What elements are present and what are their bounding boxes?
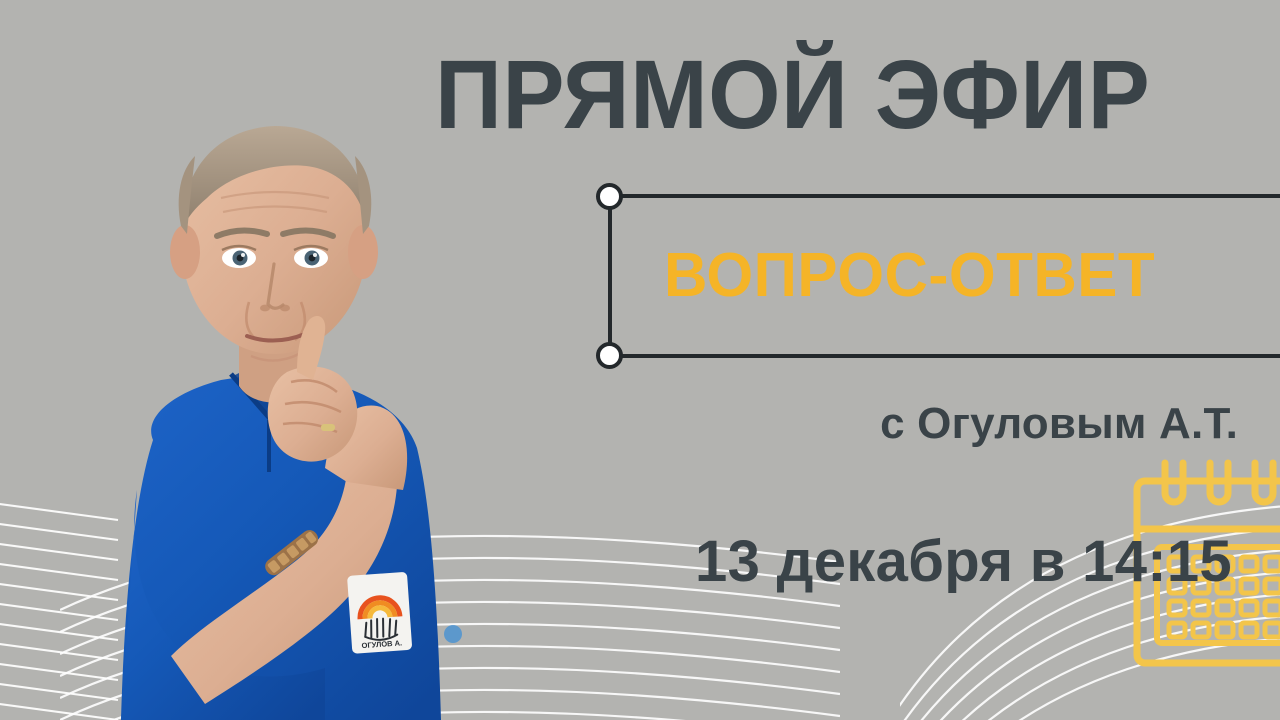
presenter-name: с Огуловым А.Т. bbox=[880, 399, 1238, 449]
promo-banner: ОГУЛОВ А. ПРЯМОЙ ЭФИР ВОПРОС-ОТВЕТ с Огу… bbox=[0, 0, 1280, 720]
bracket-dot-top bbox=[596, 183, 623, 210]
bracket-stem bbox=[608, 196, 612, 356]
page-title: ПРЯМОЙ ЭФИР bbox=[435, 46, 1213, 143]
bracket-dot-bottom bbox=[596, 342, 623, 369]
presenter-portrait: ОГУЛОВ А. bbox=[25, 20, 495, 720]
subject-title: ВОПРОС-ОТВЕТ bbox=[664, 240, 1246, 311]
event-datetime: 13 декабря в 14:15 bbox=[695, 528, 1232, 595]
bracket-line-bottom bbox=[610, 354, 1280, 358]
wave-lines-right bbox=[900, 470, 1280, 720]
bracket-line-top bbox=[610, 194, 1280, 198]
